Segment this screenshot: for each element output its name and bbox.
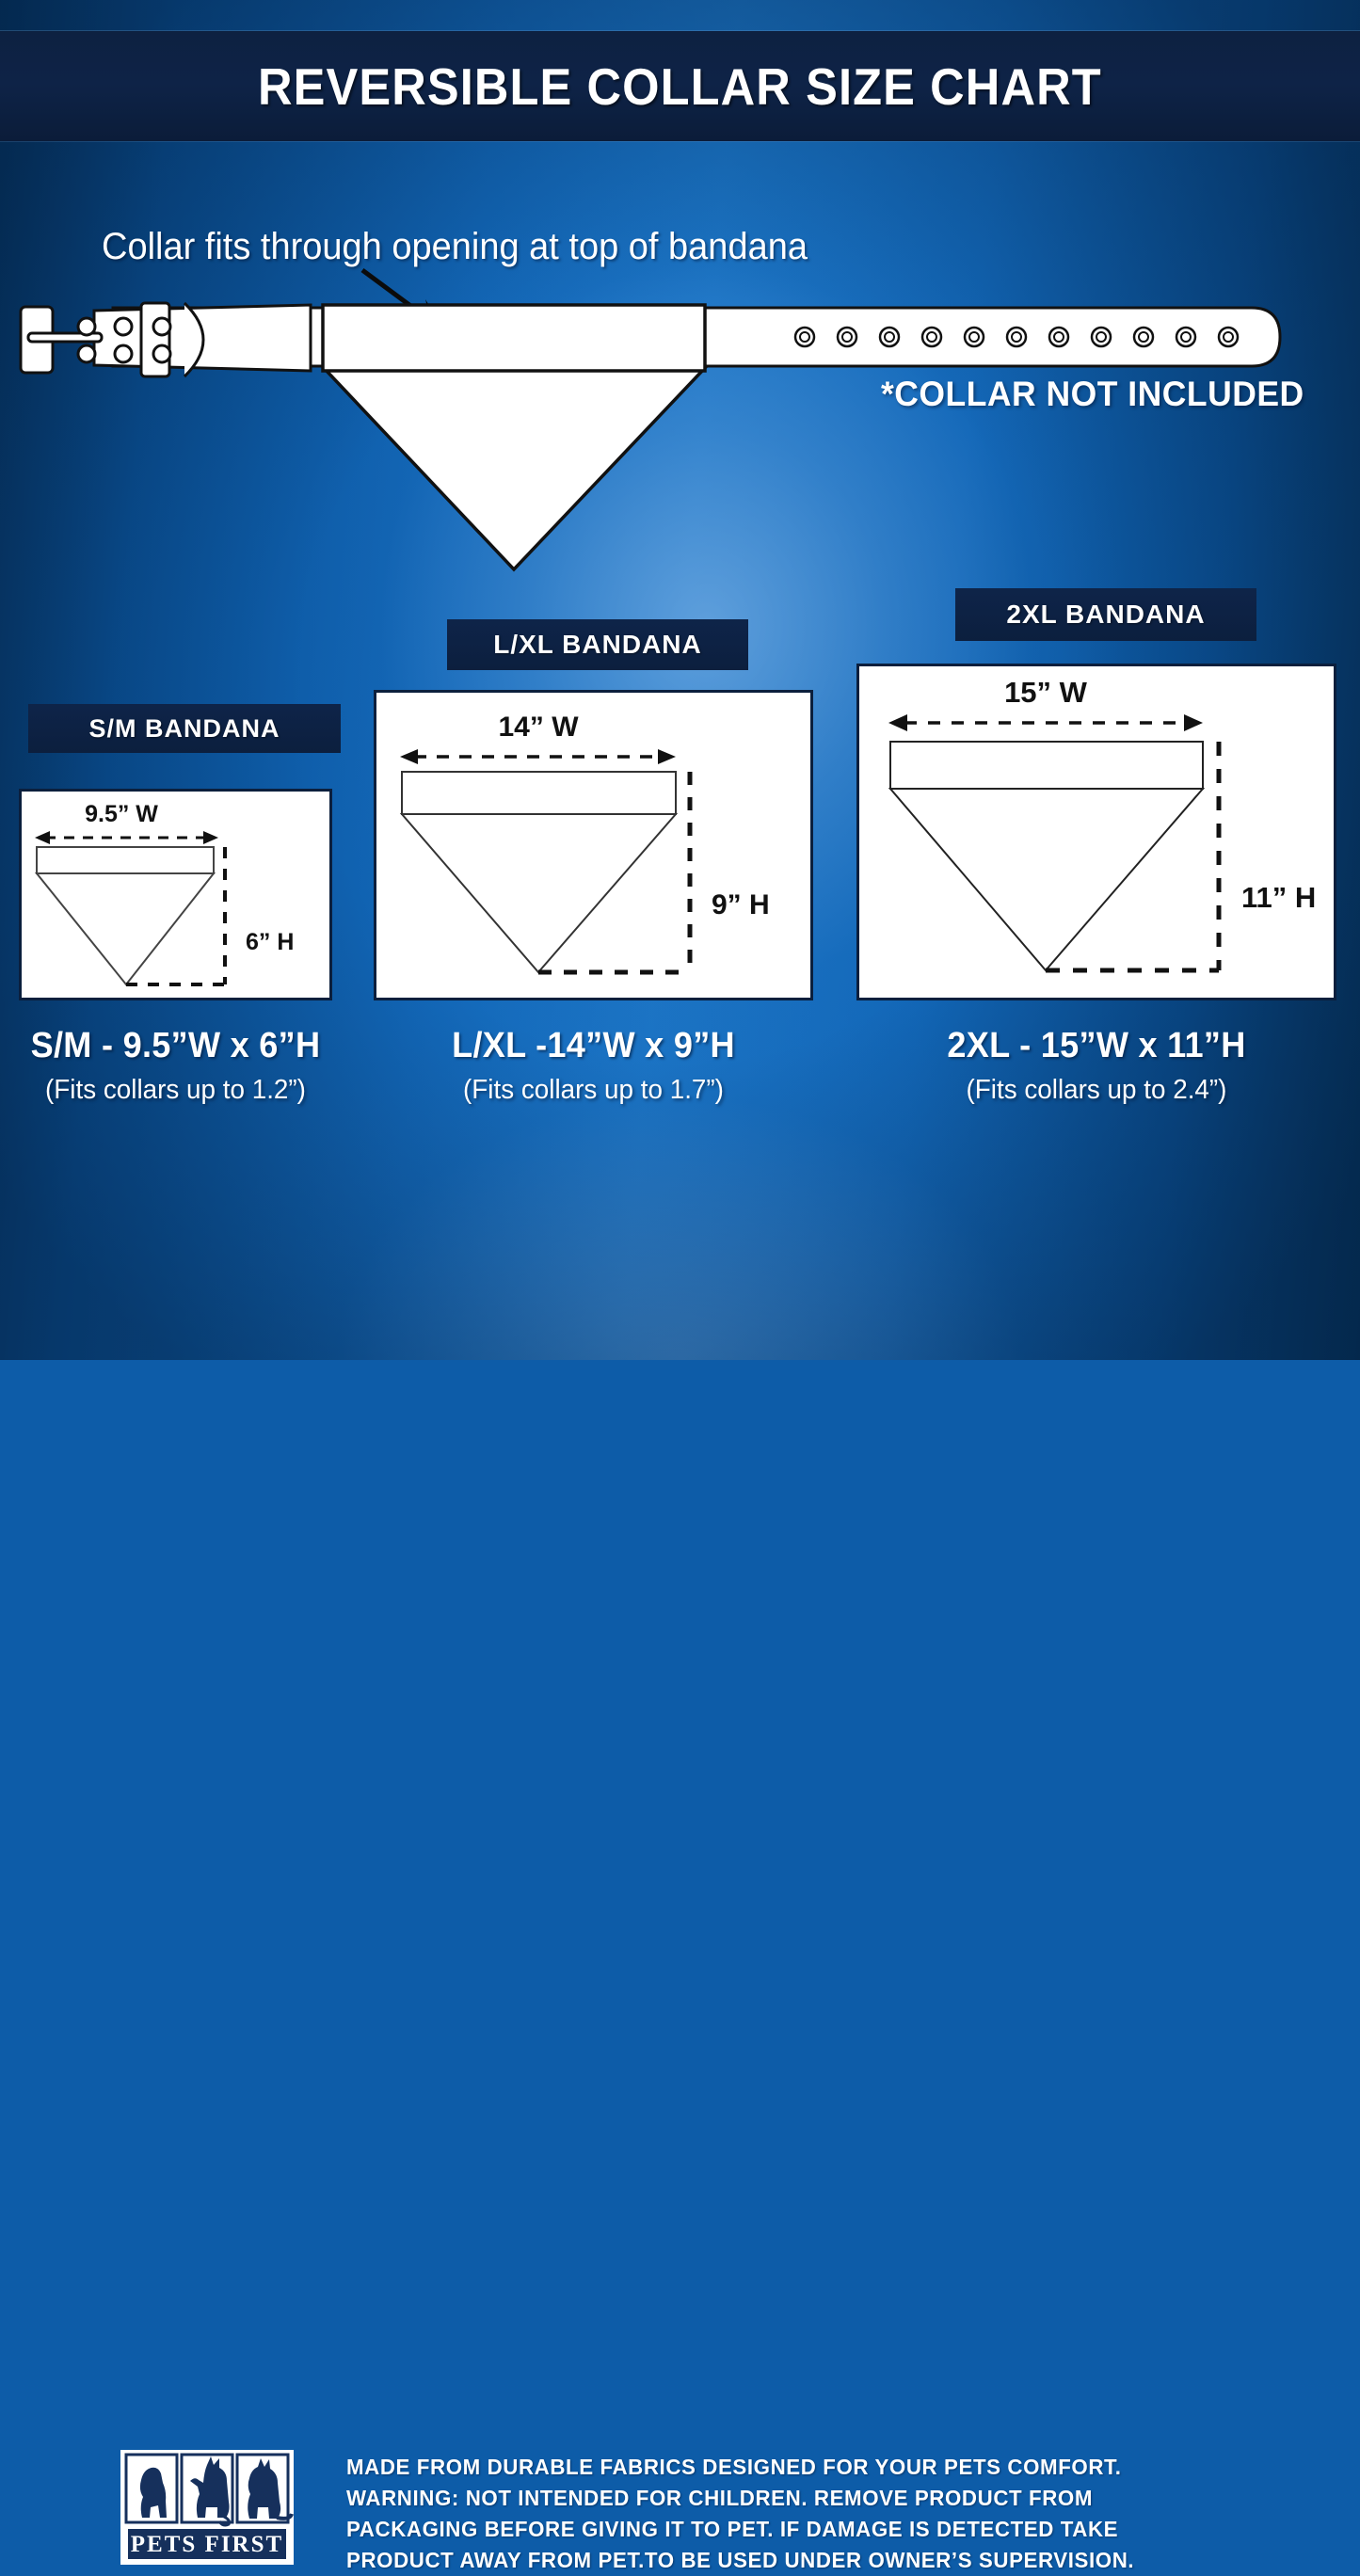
size-caption-sm-sub: (Fits collars up to 1.2”) xyxy=(25,1075,327,1106)
size-diagram-2xl: 15” W 11” H xyxy=(859,666,1334,998)
size-caption-2xl: 2XL - 15”W x 11”H (Fits collars up to 2.… xyxy=(856,1026,1336,1106)
bandana-triangle xyxy=(325,369,704,569)
size-card-2xl: 15” W 11” H xyxy=(856,664,1336,1000)
bandana-triangle-lxl xyxy=(402,814,676,972)
logo-svg: PETS FIRST xyxy=(120,2450,294,2565)
size-lxl-width-label: 14” W xyxy=(498,712,579,743)
size-2xl-width-label: 15” W xyxy=(1004,676,1088,709)
buckle-keeper xyxy=(141,303,169,376)
size-panel-sm-header: S/M BANDANA xyxy=(28,704,341,753)
collar-not-included-note: *COLLAR NOT INCLUDED xyxy=(881,375,1304,414)
callout-text: Collar fits through opening at top of ba… xyxy=(102,226,808,268)
pets-first-logo: PETS FIRST xyxy=(120,2450,294,2565)
collar-hole xyxy=(153,345,170,362)
size-diagram-sm: 9.5” W 6” H xyxy=(22,792,329,998)
collar-hole xyxy=(78,345,95,362)
footer-line-4: PRODUCT AWAY FROM PET.TO BE USED UNDER O… xyxy=(346,2545,1134,2576)
bandana-sleeve xyxy=(323,305,705,371)
size-card-sm: 9.5” W 6” H xyxy=(19,789,332,1000)
collar-bandana-illustration xyxy=(0,282,1360,593)
size-caption-sm: S/M - 9.5”W x 6”H (Fits collars up to 1.… xyxy=(19,1026,332,1106)
collar-hole xyxy=(153,318,170,335)
logo-brand-name: PETS FIRST xyxy=(131,2532,283,2557)
size-panel-lxl-header: L/XL BANDANA xyxy=(447,619,748,670)
footer-line-2: WARNING: NOT INTENDED FOR CHILDREN. REMO… xyxy=(346,2483,1134,2514)
size-caption-lxl-sub: (Fits collars up to 1.7”) xyxy=(382,1075,804,1106)
bandana-sleeve-2xl xyxy=(890,742,1203,789)
size-2xl-height-label: 11” H xyxy=(1241,881,1316,914)
collar-hole xyxy=(78,318,95,335)
bandana-triangle-2xl xyxy=(890,789,1203,970)
size-caption-2xl-main: 2XL - 15”W x 11”H xyxy=(869,1026,1325,1066)
collar-hole xyxy=(115,345,132,362)
collar-svg xyxy=(0,282,1360,593)
size-sm-width-label: 9.5” W xyxy=(85,801,158,827)
size-caption-sm-main: S/M - 9.5”W x 6”H xyxy=(26,1026,324,1066)
bandana-sleeve-sm xyxy=(37,847,214,873)
bandana-triangle-sm xyxy=(37,873,214,984)
footer-line-1: MADE FROM DURABLE FABRICS DESIGNED FOR Y… xyxy=(346,2452,1134,2483)
footer: PETS FIRST MADE FROM DURABLE FABRICS DES… xyxy=(0,1219,1360,1360)
bandana-sleeve-lxl xyxy=(402,772,676,814)
footer-disclaimer: MADE FROM DURABLE FABRICS DESIGNED FOR Y… xyxy=(346,2452,1134,2576)
collar-hole xyxy=(115,318,132,335)
size-panel-2xl-header: 2XL BANDANA xyxy=(955,588,1256,641)
size-caption-lxl: L/XL -14”W x 9”H (Fits collars up to 1.7… xyxy=(374,1026,813,1106)
page-title: REVERSIBLE COLLAR SIZE CHART xyxy=(258,56,1102,117)
footer-line-3: PACKAGING BEFORE GIVING IT TO PET. IF DA… xyxy=(346,2514,1134,2545)
size-diagram-lxl: 14” W 9” H xyxy=(376,693,810,998)
size-sm-height-label: 6” H xyxy=(246,929,294,955)
size-caption-lxl-main: L/XL -14”W x 9”H xyxy=(385,1026,803,1066)
size-lxl-height-label: 9” H xyxy=(712,889,770,920)
title-bar: REVERSIBLE COLLAR SIZE CHART xyxy=(0,31,1360,141)
size-caption-2xl-sub: (Fits collars up to 2.4”) xyxy=(866,1075,1327,1106)
size-card-lxl: 14” W 9” H xyxy=(374,690,813,1000)
